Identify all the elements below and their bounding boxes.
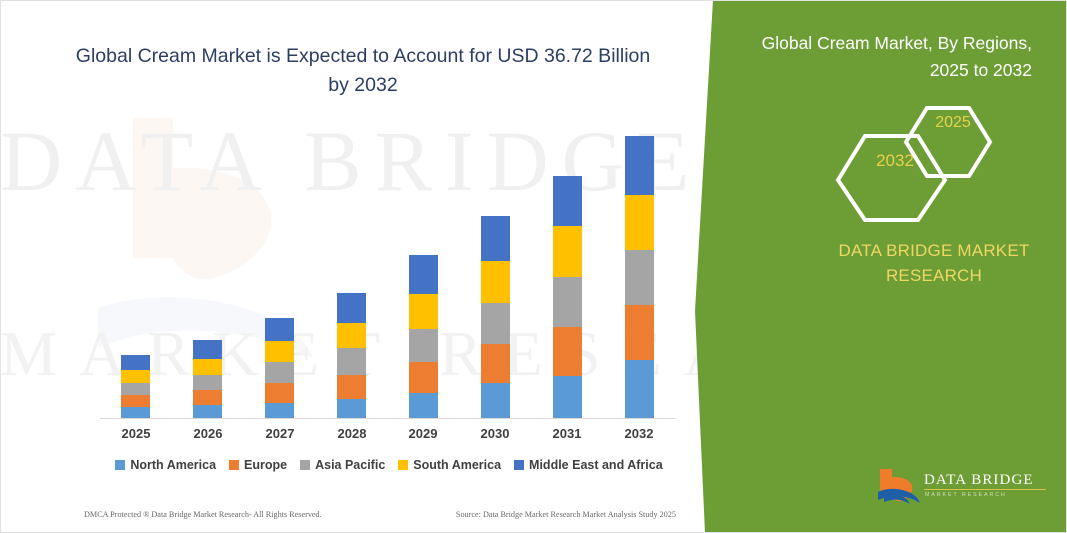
bar-column-2026[interactable]: [193, 340, 222, 418]
bar-segment[interactable]: [625, 360, 654, 418]
legend-swatch-icon: [115, 460, 125, 470]
bar-segment[interactable]: [265, 318, 294, 341]
bar-segment[interactable]: [553, 376, 582, 418]
footer-copyright: DMCA Protected ® Data Bridge Market Rese…: [84, 510, 322, 519]
bar-column-2030[interactable]: [481, 216, 510, 418]
x-axis-label-2025: 2025: [106, 426, 166, 441]
bar-segment[interactable]: [409, 255, 438, 294]
chart-legend: North AmericaEuropeAsia PacificSouth Ame…: [100, 455, 678, 475]
legend-label: Europe: [244, 458, 287, 472]
bar-segment[interactable]: [481, 344, 510, 383]
hexagon-near-outline: [906, 108, 990, 176]
legend-label: North America: [130, 458, 216, 472]
bar-segment[interactable]: [481, 303, 510, 344]
bar-segment[interactable]: [481, 216, 510, 261]
bar-segment[interactable]: [337, 399, 366, 418]
legend-item[interactable]: South America: [398, 458, 501, 472]
bar-column-2031[interactable]: [553, 176, 582, 418]
legend-label: Asia Pacific: [315, 458, 385, 472]
legend-item[interactable]: North America: [115, 458, 216, 472]
bar-segment[interactable]: [553, 327, 582, 376]
bar-segment[interactable]: [337, 323, 366, 348]
data-bridge-mark-icon: [876, 466, 922, 512]
bar-segment[interactable]: [265, 383, 294, 403]
legend-swatch-icon: [398, 460, 408, 470]
hexagon-group: 2032 2025: [810, 96, 1000, 222]
logo-wordmark: DATA BRIDGE: [924, 472, 1034, 489]
legend-label: South America: [413, 458, 501, 472]
panel-brand-text: DATA BRIDGE MARKET RESEARCH: [800, 238, 1067, 288]
bar-segment[interactable]: [337, 375, 366, 399]
bar-segment[interactable]: [337, 348, 366, 375]
bar-segment[interactable]: [409, 329, 438, 362]
bar-segment[interactable]: [193, 390, 222, 405]
bar-segment[interactable]: [121, 383, 150, 395]
legend-item[interactable]: Middle East and Africa: [514, 458, 663, 472]
bar-segment[interactable]: [625, 250, 654, 305]
logo-divider: [924, 489, 1046, 490]
data-bridge-logo: DATA BRIDGE MARKET RESEARCH: [876, 466, 1051, 512]
infographic-root: DATA BRIDGE MARKET RESEARCH Global Cream…: [0, 0, 1067, 533]
legend-swatch-icon: [300, 460, 310, 470]
legend-swatch-icon: [229, 460, 239, 470]
bar-segment[interactable]: [625, 305, 654, 360]
bar-segment[interactable]: [193, 359, 222, 375]
x-axis-label-2028: 2028: [322, 426, 382, 441]
bar-segment[interactable]: [409, 362, 438, 393]
bar-segment[interactable]: [409, 393, 438, 418]
bar-segment[interactable]: [121, 395, 150, 407]
bar-segment[interactable]: [553, 226, 582, 277]
bar-column-2025[interactable]: [121, 355, 150, 418]
bar-segment[interactable]: [121, 355, 150, 370]
logo-subtext: MARKET RESEARCH: [925, 492, 1007, 498]
footer-bar: DMCA Protected ® Data Bridge Market Rese…: [84, 505, 676, 523]
bar-column-2028[interactable]: [337, 293, 366, 418]
bar-segment[interactable]: [481, 383, 510, 418]
x-axis-label-2026: 2026: [178, 426, 238, 441]
x-axis-label-2030: 2030: [465, 426, 525, 441]
bar-segment[interactable]: [481, 261, 510, 303]
bar-segment[interactable]: [553, 176, 582, 226]
legend-label: Middle East and Africa: [529, 458, 663, 472]
bar-segment[interactable]: [265, 362, 294, 383]
bar-column-2027[interactable]: [265, 318, 294, 418]
bar-chart-plot: [100, 110, 675, 418]
page-title: Global Cream Market is Expected to Accou…: [74, 42, 652, 100]
bar-segment[interactable]: [625, 136, 654, 195]
bar-segment[interactable]: [193, 340, 222, 359]
bar-segment[interactable]: [553, 277, 582, 327]
x-axis-label-2032: 2032: [609, 426, 669, 441]
x-axis-line: [100, 418, 675, 419]
x-axis-labels: 20252026202720282029203020312032: [100, 426, 675, 448]
bar-column-2032[interactable]: [625, 136, 654, 418]
legend-item[interactable]: Asia Pacific: [300, 458, 385, 472]
footer-source: Source: Data Bridge Market Research Mark…: [456, 510, 676, 519]
bar-segment[interactable]: [409, 294, 438, 329]
x-axis-label-2029: 2029: [393, 426, 453, 441]
panel-title: Global Cream Market, By Regions, 2025 to…: [740, 30, 1050, 84]
legend-item[interactable]: Europe: [229, 458, 287, 472]
bar-segment[interactable]: [121, 370, 150, 383]
bar-segment[interactable]: [265, 403, 294, 418]
bar-segment[interactable]: [265, 341, 294, 362]
bar-segment[interactable]: [193, 375, 222, 390]
bar-segment[interactable]: [625, 195, 654, 250]
bar-segment[interactable]: [193, 405, 222, 418]
bar-column-2029[interactable]: [409, 255, 438, 418]
bar-segment[interactable]: [337, 293, 366, 323]
legend-swatch-icon: [514, 460, 524, 470]
x-axis-label-2031: 2031: [537, 426, 597, 441]
x-axis-label-2027: 2027: [250, 426, 310, 441]
bar-segment[interactable]: [121, 407, 150, 418]
